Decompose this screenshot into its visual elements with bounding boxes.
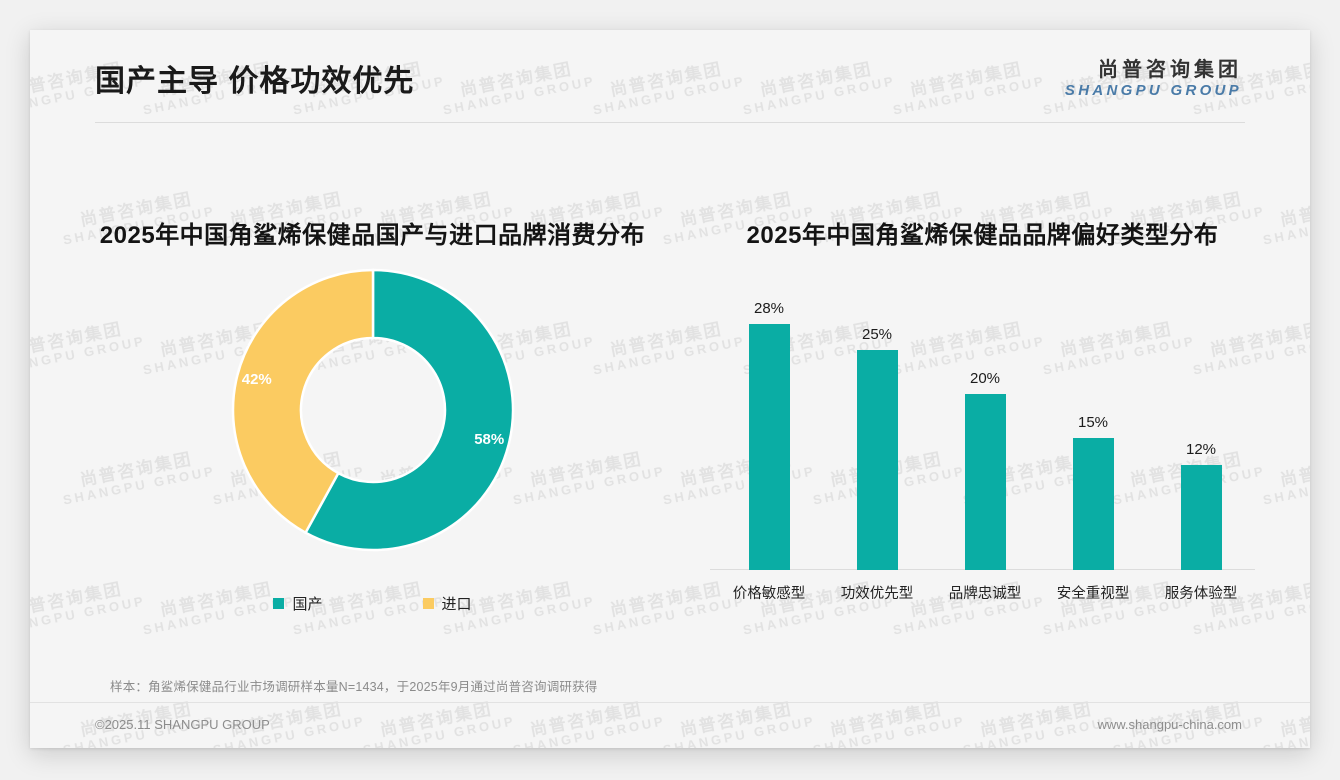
bar-column[interactable]: 28%价格敏感型 [718,280,820,570]
screenshot-stage: 尚普咨询集团SHANGPU GROUP尚普咨询集团SHANGPU GROUP尚普… [0,0,1340,780]
bar-category-label: 功效优先型 [826,582,928,603]
header-divider [95,122,1245,123]
bar-rect[interactable] [1181,465,1222,570]
legend-label-import: 进口 [442,593,472,614]
legend-item-domestic[interactable]: 国产 [273,593,322,614]
bar-column[interactable]: 25%功效优先型 [826,280,928,570]
legend-label-domestic: 国产 [292,593,322,614]
bar-chart-title: 2025年中国角鲨烯保健品品牌偏好类型分布 [685,215,1280,250]
bar-rect[interactable] [749,324,790,570]
logo-english-text: SHANGPU GROUP [1065,82,1242,101]
bar-value-label: 15% [1078,414,1108,431]
bar-rect[interactable] [965,394,1006,570]
donut-svg: 58% 42% [223,260,523,560]
donut-legend: 国产 进口 [60,593,685,614]
slide-card: 尚普咨询集团SHANGPU GROUP尚普咨询集团SHANGPU GROUP尚普… [30,30,1310,748]
bar-value-label: 28% [754,300,784,317]
donut-chart-graphic: 58% 42% [60,260,685,560]
copyright-text: ©2025.11 SHANGPU GROUP [95,717,270,732]
legend-swatch-import [423,598,434,609]
logo-chinese-text: 尚普咨询集团 [1065,58,1242,82]
bar-rect[interactable] [1073,438,1114,570]
legend-item-import[interactable]: 进口 [423,593,472,614]
bar-category-label: 服务体验型 [1150,582,1252,603]
slide-footer: ©2025.11 SHANGPU GROUP www.shangpu-china… [30,703,1310,748]
page-title: 国产主导 价格功效优先 [95,56,414,100]
bar-category-label: 价格敏感型 [718,582,820,603]
bar-category-label: 安全重视型 [1042,582,1144,603]
source-note: 样本：角鲨烯保健品行业市场调研样本量N=1434，于2025年9月通过尚普咨询调… [110,676,598,695]
slide-header: 国产主导 价格功效优先 尚普咨询集团 SHANGPU GROUP [30,30,1310,125]
bar-value-label: 25% [862,326,892,343]
bar-category-label: 品牌忠诚型 [934,582,1036,603]
website-url[interactable]: www.shangpu-china.com [1097,717,1242,732]
donut-value-label-import: 42% [241,371,271,388]
legend-swatch-domestic [273,598,284,609]
bar-rect[interactable] [857,350,898,570]
donut-chart-panel: 2025年中国角鲨烯保健品国产与进口品牌消费分布 58% 42% 国产 [60,125,685,670]
bar-value-label: 20% [970,370,1000,387]
donut-value-label-domestic: 58% [474,431,504,448]
charts-region: 2025年中国角鲨烯保健品国产与进口品牌消费分布 58% 42% 国产 [30,125,1310,670]
brand-logo: 尚普咨询集团 SHANGPU GROUP [1065,58,1242,101]
bar-chart-plot: 28%价格敏感型25%功效优先型20%品牌忠诚型15%安全重视型12%服务体验型 [710,280,1255,570]
bar-value-label: 12% [1186,441,1216,458]
bar-column[interactable]: 12%服务体验型 [1150,280,1252,570]
donut-chart-title: 2025年中国角鲨烯保健品国产与进口品牌消费分布 [60,215,685,250]
bar-column[interactable]: 15%安全重视型 [1042,280,1144,570]
bar-chart-panel: 2025年中国角鲨烯保健品品牌偏好类型分布 28%价格敏感型25%功效优先型20… [685,125,1280,670]
bar-column[interactable]: 20%品牌忠诚型 [934,280,1036,570]
